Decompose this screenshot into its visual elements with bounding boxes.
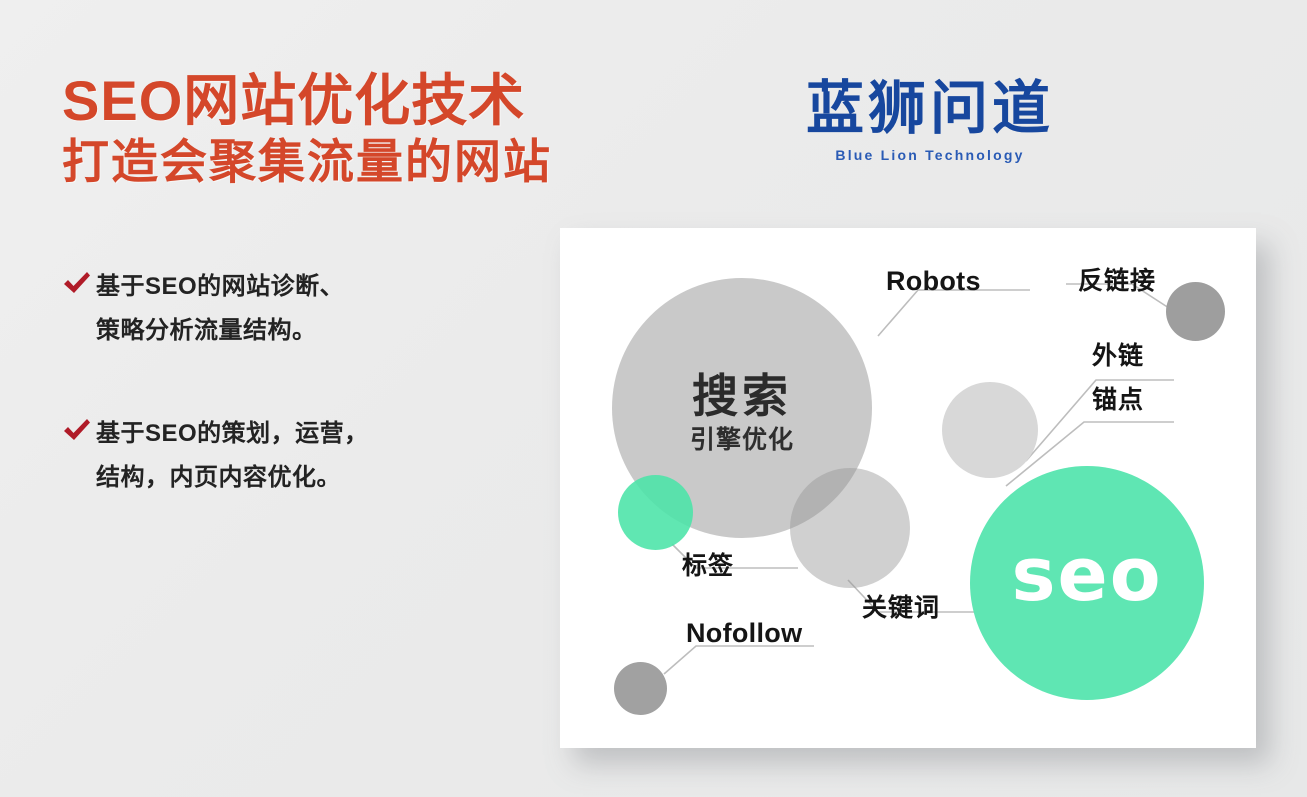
brand-logo: 蓝狮问道 Blue Lion Technology [770, 78, 1090, 163]
logo-name-en: Blue Lion Technology [770, 147, 1090, 163]
label-anchor: 锚点 [1092, 380, 1144, 416]
label-robots: Robots [886, 266, 981, 297]
label-tag: 标签 [682, 546, 734, 582]
check-icon [62, 412, 96, 444]
circle-seo: seo [970, 466, 1204, 700]
circle-nofollow [614, 662, 667, 715]
main-circle-subtitle: 引擎优化 [612, 420, 872, 456]
bullet-list: 基于SEO的网站诊断、 策略分析流量结构。 基于SEO的策划，运营， 结构，内页… [62, 265, 532, 559]
bullet-1-line-2: 策略分析流量结构。 [96, 309, 344, 353]
main-circle-title: 搜索 [612, 360, 872, 426]
label-outlink: 外链 [1092, 336, 1144, 372]
list-item: 基于SEO的策划，运营， 结构，内页内容优化。 [62, 412, 532, 501]
list-item: 基于SEO的网站诊断、 策略分析流量结构。 [62, 265, 532, 354]
label-backlink: 反链接 [1078, 261, 1156, 297]
slide-canvas: SEO网站优化技术 打造会聚集流量的网站 基于SEO的网站诊断、 策略分析流量结… [0, 0, 1307, 797]
list-item-text: 基于SEO的策划，运营， 结构，内页内容优化。 [96, 412, 369, 501]
circle-tag [618, 475, 693, 550]
bullet-2-line-1: 基于SEO的策划，运营， [96, 412, 369, 456]
check-icon [62, 265, 96, 297]
logo-name-cn: 蓝狮问道 [770, 78, 1090, 139]
headline-line-1: SEO网站优化技术 [62, 72, 682, 129]
diagram-card: 搜索 引擎优化 seo Robots 反链接 外链 锚点 标签 关键词 Nofo… [560, 228, 1256, 748]
label-nofollow: Nofollow [686, 618, 802, 649]
headline-line-2: 打造会聚集流量的网站 [62, 135, 682, 189]
bubble-diagram: 搜索 引擎优化 seo Robots 反链接 外链 锚点 标签 关键词 Nofo… [560, 228, 1256, 748]
bullet-2-line-2: 结构，内页内容优化。 [96, 456, 369, 500]
bullet-1-line-1: 基于SEO的网站诊断、 [96, 265, 344, 309]
list-item-text: 基于SEO的网站诊断、 策略分析流量结构。 [96, 265, 344, 354]
circle-keyword [790, 468, 910, 588]
seo-circle-label: seo [970, 538, 1204, 612]
page-title: SEO网站优化技术 打造会聚集流量的网站 [62, 72, 682, 189]
label-keyword: 关键词 [862, 588, 940, 624]
circle-backlink [1166, 282, 1225, 341]
circle-outlink [942, 382, 1038, 478]
